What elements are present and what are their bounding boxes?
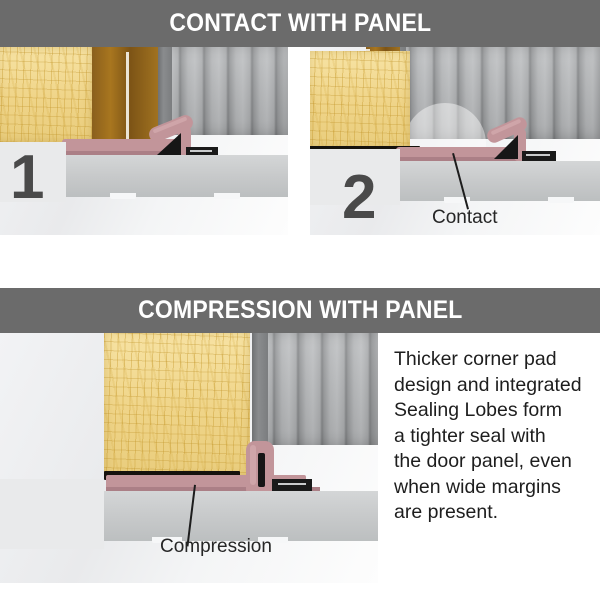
illustration-page: CONTACT WITH PANEL 1 <box>0 0 600 600</box>
section-header-contact: CONTACT WITH PANEL <box>0 0 600 47</box>
section-header-contact-label: CONTACT WITH PANEL <box>169 9 431 38</box>
sill-front-face-3 <box>0 479 104 549</box>
section-header-compression: COMPRESSION WITH PANEL <box>0 288 600 333</box>
body-copy-line-6: when wide margins <box>394 475 594 501</box>
step-number-1: 1 <box>10 147 44 209</box>
door-panel-edge-highlight-1 <box>126 52 129 144</box>
sealing-lobe-compressed-highlight <box>250 445 256 485</box>
door-panel-2 <box>310 51 410 149</box>
contact-callout-label: Contact <box>432 207 497 229</box>
retention-clip-3 <box>272 479 312 491</box>
body-copy-line-4: a tighter seal with <box>394 424 594 450</box>
sill-notch-2b <box>548 197 574 203</box>
metal-frame-jamb-3 <box>252 333 268 445</box>
retention-clip-highlight-2 <box>526 154 550 156</box>
body-copy-line-7: are present. <box>394 500 594 526</box>
metal-frame-slab-3 <box>252 333 378 445</box>
door-panel-3 <box>104 333 250 477</box>
sealing-lobe-compressed-cavity <box>258 453 265 487</box>
retention-clip-highlight-1 <box>190 150 212 152</box>
body-copy-line-1: Thicker corner pad <box>394 347 594 373</box>
threshold-sill-2 <box>400 161 600 201</box>
illustration-step-1: 1 <box>0 47 288 235</box>
body-copy-block: Thicker corner pad design and integrated… <box>394 347 594 526</box>
body-copy-line-3: Sealing Lobes form <box>394 398 594 424</box>
step-number-2: 2 <box>342 167 376 229</box>
body-copy-line-2: design and integrated <box>394 373 594 399</box>
sill-notch-1b <box>214 193 240 199</box>
illustration-step-2: Contact 2 <box>310 47 600 235</box>
threshold-sill-1 <box>66 155 288 197</box>
compression-callout-label: Compression <box>160 536 272 558</box>
illustration-compression: Compression <box>0 333 378 583</box>
body-copy-line-5: the door panel, even <box>394 449 594 475</box>
sill-notch-1a <box>110 193 136 199</box>
door-panel-1 <box>0 47 92 142</box>
retention-clip-2 <box>522 151 556 161</box>
section-header-compression-label: COMPRESSION WITH PANEL <box>138 296 462 325</box>
threshold-sill-3 <box>104 491 378 541</box>
retention-clip-highlight-3 <box>278 483 306 485</box>
